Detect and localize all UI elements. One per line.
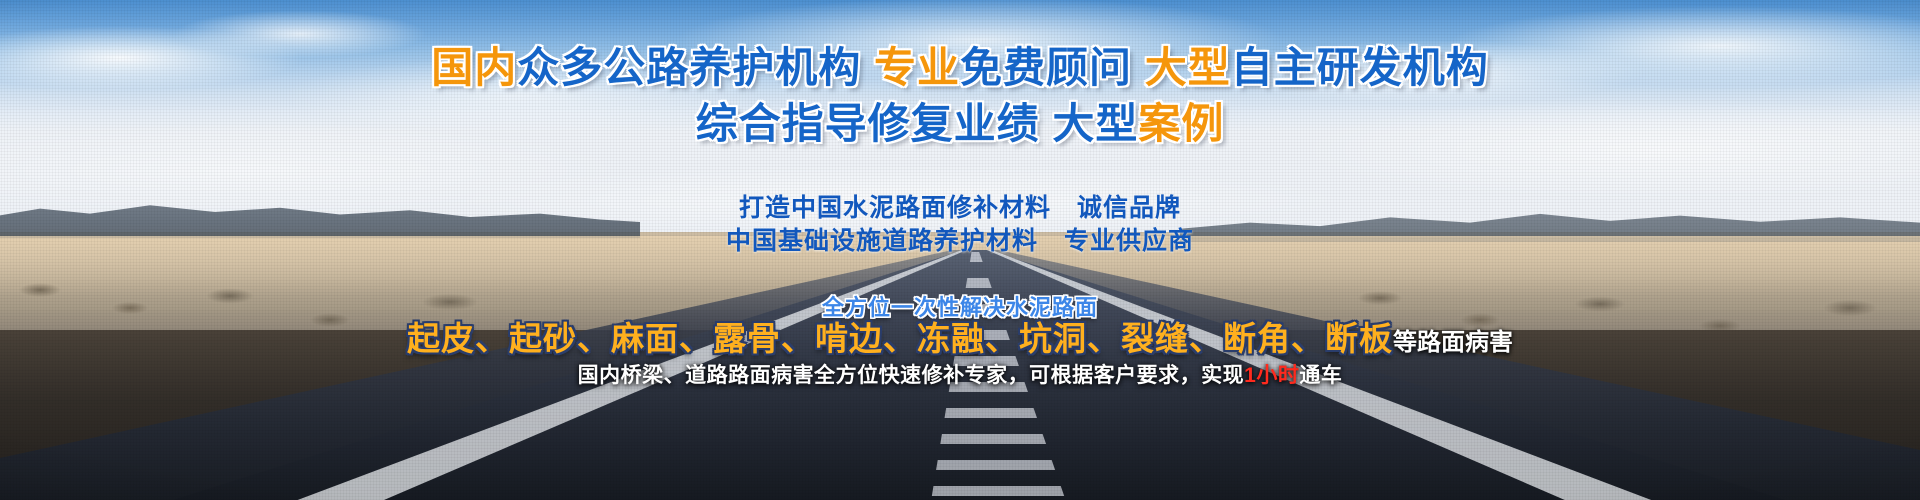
headline-segment-anli: 案例 bbox=[1138, 100, 1224, 147]
headline-gap-2 bbox=[1132, 44, 1145, 91]
headline-gap-3 bbox=[1040, 100, 1053, 147]
mid-statement-line-1: 打造中国水泥路面修补材料诚信品牌 bbox=[0, 192, 1920, 224]
mid-line2-left: 中国基础设施道路养护材料 bbox=[726, 227, 1038, 255]
closing-text-before: 国内桥梁、道路路面病害全方位快速修补专家，可根据客户要求，实现 bbox=[578, 364, 1245, 387]
damage-list-suffix: 等路面病害 bbox=[1393, 329, 1513, 356]
mid-line1-right: 诚信品牌 bbox=[1077, 194, 1181, 222]
headline-line-2: 综合指导修复业绩 大型案例 bbox=[0, 98, 1920, 150]
promo-banner: 国内众多公路养护机构 专业免费顾问 大型自主研发机构 综合指导修复业绩 大型案例… bbox=[0, 0, 1920, 500]
headline-segment-daxing-2: 大型 bbox=[1052, 100, 1138, 147]
headline-segment-mianfei: 免费顾问 bbox=[960, 44, 1132, 91]
mid-line1-left: 打造中国水泥路面修补材料 bbox=[739, 194, 1051, 222]
headline-segment-guonei: 国内 bbox=[431, 44, 517, 91]
banner-content: 国内众多公路养护机构 专业免费顾问 大型自主研发机构 综合指导修复业绩 大型案例… bbox=[0, 0, 1920, 500]
damage-type-list: 起皮、起砂、麻面、露骨、啃边、冻融、坑洞、裂缝、断角、断板 bbox=[407, 320, 1393, 357]
headline-segment-zizhu: 自主研发机构 bbox=[1231, 44, 1489, 91]
headline-gap-1 bbox=[861, 44, 874, 91]
headline-segment-zonghe: 综合指导修复业绩 bbox=[696, 100, 1040, 147]
mid-line2-right: 专业供应商 bbox=[1064, 227, 1194, 255]
closing-text-after: 通车 bbox=[1299, 364, 1342, 387]
closing-highlight-duration: 1小时 bbox=[1244, 364, 1299, 387]
mid-statement-line-2: 中国基础设施道路养护材料专业供应商 bbox=[0, 225, 1920, 257]
headline-segment-zhongduo: 众多公路养护机构 bbox=[517, 44, 861, 91]
bottom-closing-line: 国内桥梁、道路路面病害全方位快速修补专家，可根据客户要求，实现1小时通车 bbox=[0, 362, 1920, 390]
headline-segment-zhuanye: 专业 bbox=[874, 44, 960, 91]
headline-segment-daxing: 大型 bbox=[1145, 44, 1231, 91]
bottom-damage-line: 起皮、起砂、麻面、露骨、啃边、冻融、坑洞、裂缝、断角、断板等路面病害 bbox=[0, 318, 1920, 364]
headline-line-1: 国内众多公路养护机构 专业免费顾问 大型自主研发机构 bbox=[0, 42, 1920, 94]
